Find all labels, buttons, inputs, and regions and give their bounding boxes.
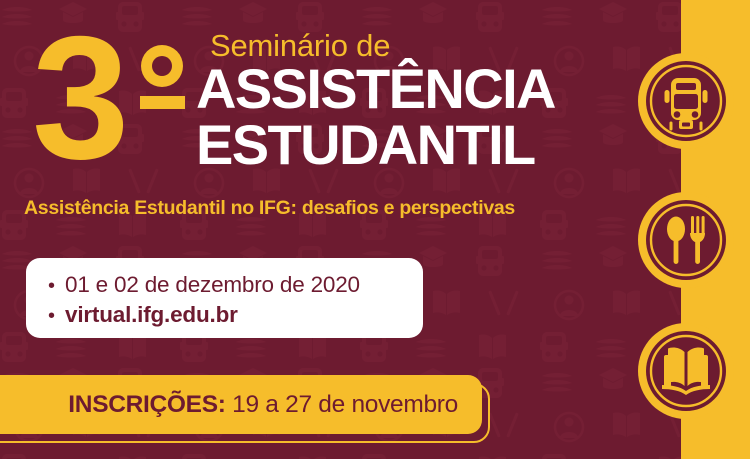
bullet-icon: • <box>48 306 65 326</box>
bus-icon <box>638 53 734 149</box>
event-info-card: • 01 e 02 de dezembro de 2020 • virtual.… <box>26 258 423 338</box>
registration-banner: INSCRIÇÕES: 19 a 27 de novembro <box>0 375 482 434</box>
event-url[interactable]: virtual.ifg.edu.br <box>65 300 238 330</box>
event-date: 01 e 02 de dezembro de 2020 <box>65 270 360 300</box>
registration-text: INSCRIÇÕES: 19 a 27 de novembro <box>68 391 458 419</box>
bullet-icon: • <box>48 276 65 296</box>
heading-block: Seminário de ASSISTÊNCIA ESTUDANTIL <box>196 30 636 172</box>
registration-period: 19 a 27 de novembro <box>232 391 458 418</box>
info-row-date: • 01 e 02 de dezembro de 2020 <box>48 270 423 300</box>
poster-canvas: 3 Seminário de ASSISTÊNCIA ESTUDANTIL As… <box>0 0 750 459</box>
registration-label: INSCRIÇÕES: <box>68 391 232 418</box>
info-row-url[interactable]: • virtual.ifg.edu.br <box>48 300 423 330</box>
ordinal-number-glyph: 3 <box>32 18 123 183</box>
title-line-1: ASSISTÊNCIA <box>196 62 636 116</box>
book-icon <box>638 323 734 419</box>
event-subtitle: Assistência Estudantil no IFG: desafios … <box>24 197 515 220</box>
ordinal-numeral: 3 <box>32 18 202 183</box>
cutlery-icon <box>638 192 734 288</box>
title-line-2: ESTUDANTIL <box>196 118 636 172</box>
